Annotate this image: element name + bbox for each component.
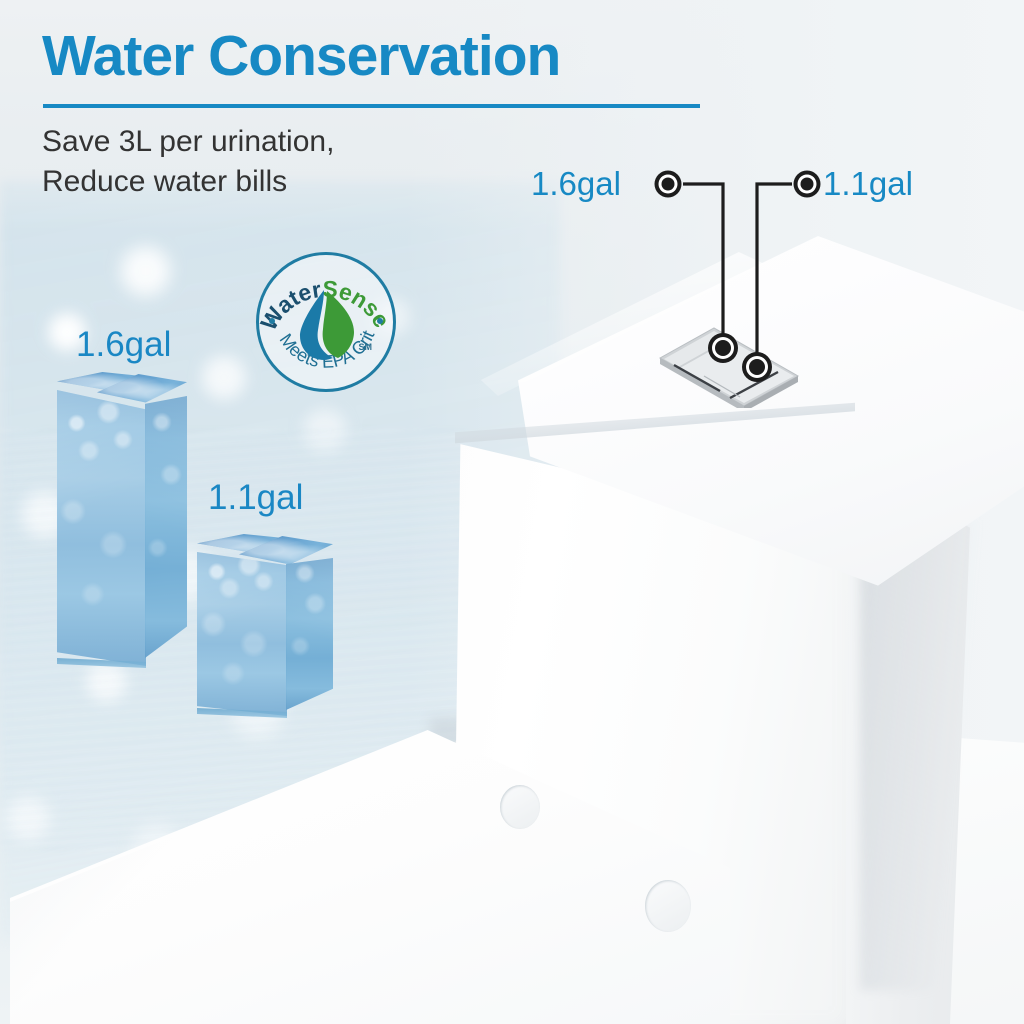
- callout-dot-label-half: [794, 171, 821, 198]
- callout-label-full-flush: 1.6gal: [531, 165, 621, 203]
- infographic-canvas: 1.6gal 1.1gal 1.6gal 1.1gal WaterSense: [0, 0, 1024, 1024]
- watersense-logo: WaterSense Meets EPA Criteria SM: [256, 252, 396, 392]
- callout-dot-button-half: [742, 352, 772, 382]
- page-title: Water Conservation: [42, 28, 560, 85]
- bar-full-flush: [57, 372, 187, 687]
- callout-label-half-flush: 1.1gal: [823, 165, 913, 203]
- bar-label-half-flush: 1.1gal: [208, 478, 303, 518]
- callout-dot-button-full: [708, 333, 738, 363]
- bar-label-full-flush: 1.6gal: [76, 325, 171, 365]
- watersense-service-mark: SM: [359, 342, 373, 352]
- watersense-droplet-icon: [294, 288, 358, 364]
- bar-half-flush: [197, 534, 333, 730]
- watersense-bullet-right: [377, 318, 383, 324]
- title-underline: [43, 104, 700, 108]
- watersense-bullet-left: [269, 318, 275, 324]
- page-subtitle: Save 3L per urination, Reduce water bill…: [42, 122, 334, 201]
- callout-dot-label-full: [655, 171, 682, 198]
